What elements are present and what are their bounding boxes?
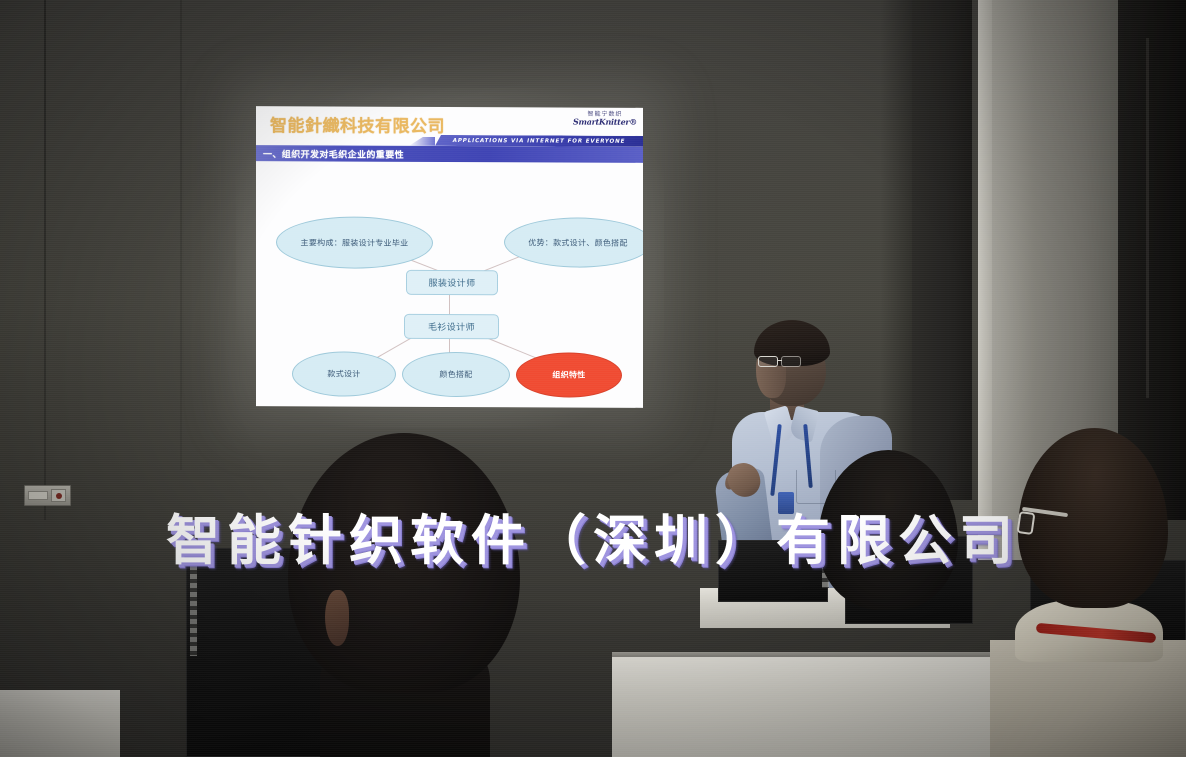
audience-ear-center: [325, 590, 349, 646]
diagram-node-main-composition: 主要构成：服装设计专业毕业: [276, 216, 433, 269]
diagram-node-fashion-designer: 服装设计师: [406, 270, 498, 295]
desk-front-left: [0, 690, 120, 757]
wall-seam-left: [44, 0, 46, 520]
switch-rocker[interactable]: [28, 491, 48, 500]
switch-indicator-dot: [56, 493, 62, 499]
diagram-node-style-design: 款式设计: [292, 351, 396, 396]
connector-box-to-box: [449, 294, 450, 316]
wall-switch-plate[interactable]: [24, 485, 71, 506]
diagram-node-advantage: 优势：款式设计、颜色搭配: [504, 217, 643, 268]
slide-title: 智能針織科技有限公司: [270, 111, 445, 137]
monitor-mid-1: [718, 540, 828, 602]
monitor-front-left-ports: [190, 556, 197, 656]
tagline-accent-shape: [409, 137, 435, 146]
logo-english-text: SmartKnitter®: [573, 118, 637, 127]
presentation-room-photo: 智能針織科技有限公司 智能宁数织 SmartKnitter® APPLICATI…: [0, 0, 1186, 757]
door-frame-line: [1146, 38, 1149, 398]
projected-slide: 智能針織科技有限公司 智能宁数织 SmartKnitter® APPLICATI…: [256, 106, 643, 408]
slide-section-heading: 一、组织开发对毛织企业的重要性: [263, 147, 404, 161]
audience-glasses-lens: [1017, 511, 1036, 535]
wall-seam-inner: [180, 0, 182, 470]
desk-front-right: [612, 652, 1032, 757]
presenter-badge: [778, 492, 794, 514]
diagram-node-color-matching: 颜色搭配: [402, 352, 510, 397]
slide-tagline-band: APPLICATIONS VIA INTERNET FOR EVERYONE: [435, 135, 643, 147]
glasses-lens-left: [758, 356, 778, 367]
diagram-node-structure-characteristics: 组织特性: [516, 352, 622, 397]
pillar-edge-highlight: [978, 0, 992, 560]
diagram-node-sweater-designer: 毛衫设计师: [404, 314, 499, 339]
switch-indicator[interactable]: [51, 489, 66, 502]
desk-front-right-edge: [612, 652, 1032, 657]
smartknitter-logo: 智能宁数织 SmartKnitter®: [573, 112, 637, 127]
slide-tagline-text: APPLICATIONS VIA INTERNET FOR EVERYONE: [453, 138, 626, 145]
presenter-glasses: [758, 356, 804, 368]
slide-diagram: 主要构成：服装设计专业毕业 优势：款式设计、颜色搭配 服装设计师 毛衫设计师 款…: [256, 161, 643, 408]
slide-section-bar: 一、组织开发对毛织企业的重要性: [256, 145, 643, 163]
glasses-lens-right: [781, 356, 801, 367]
